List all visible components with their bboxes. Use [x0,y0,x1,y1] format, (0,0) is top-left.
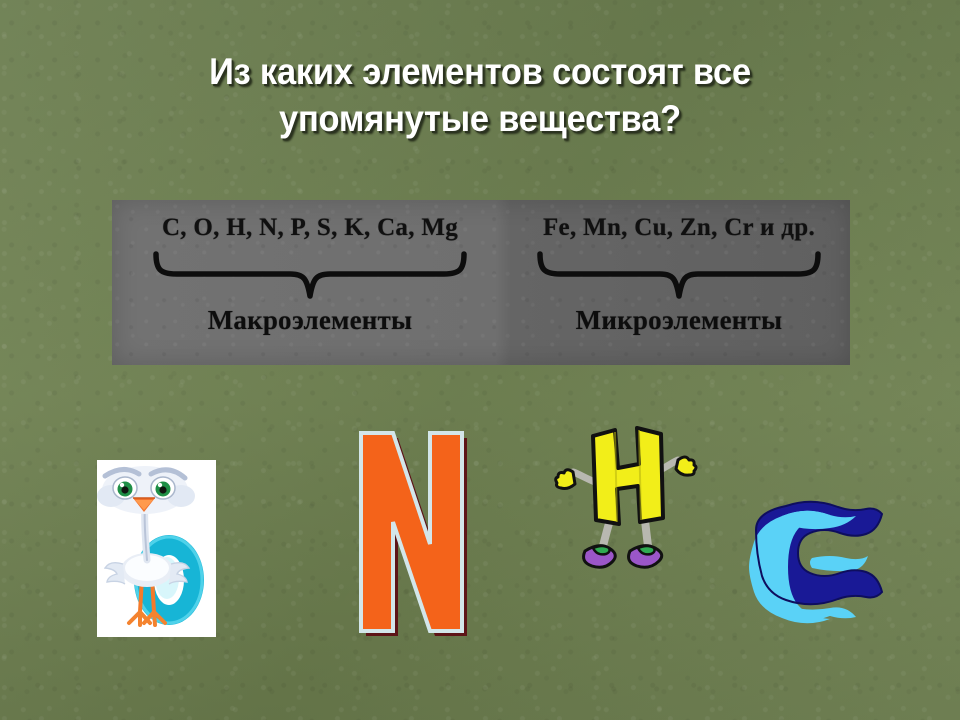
letter-illustrations [0,0,960,720]
letter-h [563,418,693,578]
slide-canvas: Из каких элементов состоят все упомянуты… [0,0,960,720]
letter-c [742,500,890,634]
ostrich-letter-o-icon [97,460,216,637]
cartoon-letter-h-icon [563,418,693,578]
letter-n [352,424,468,640]
letter-c-icon [742,500,890,634]
letter-o-card [97,460,216,637]
letter-n-icon [352,424,468,640]
